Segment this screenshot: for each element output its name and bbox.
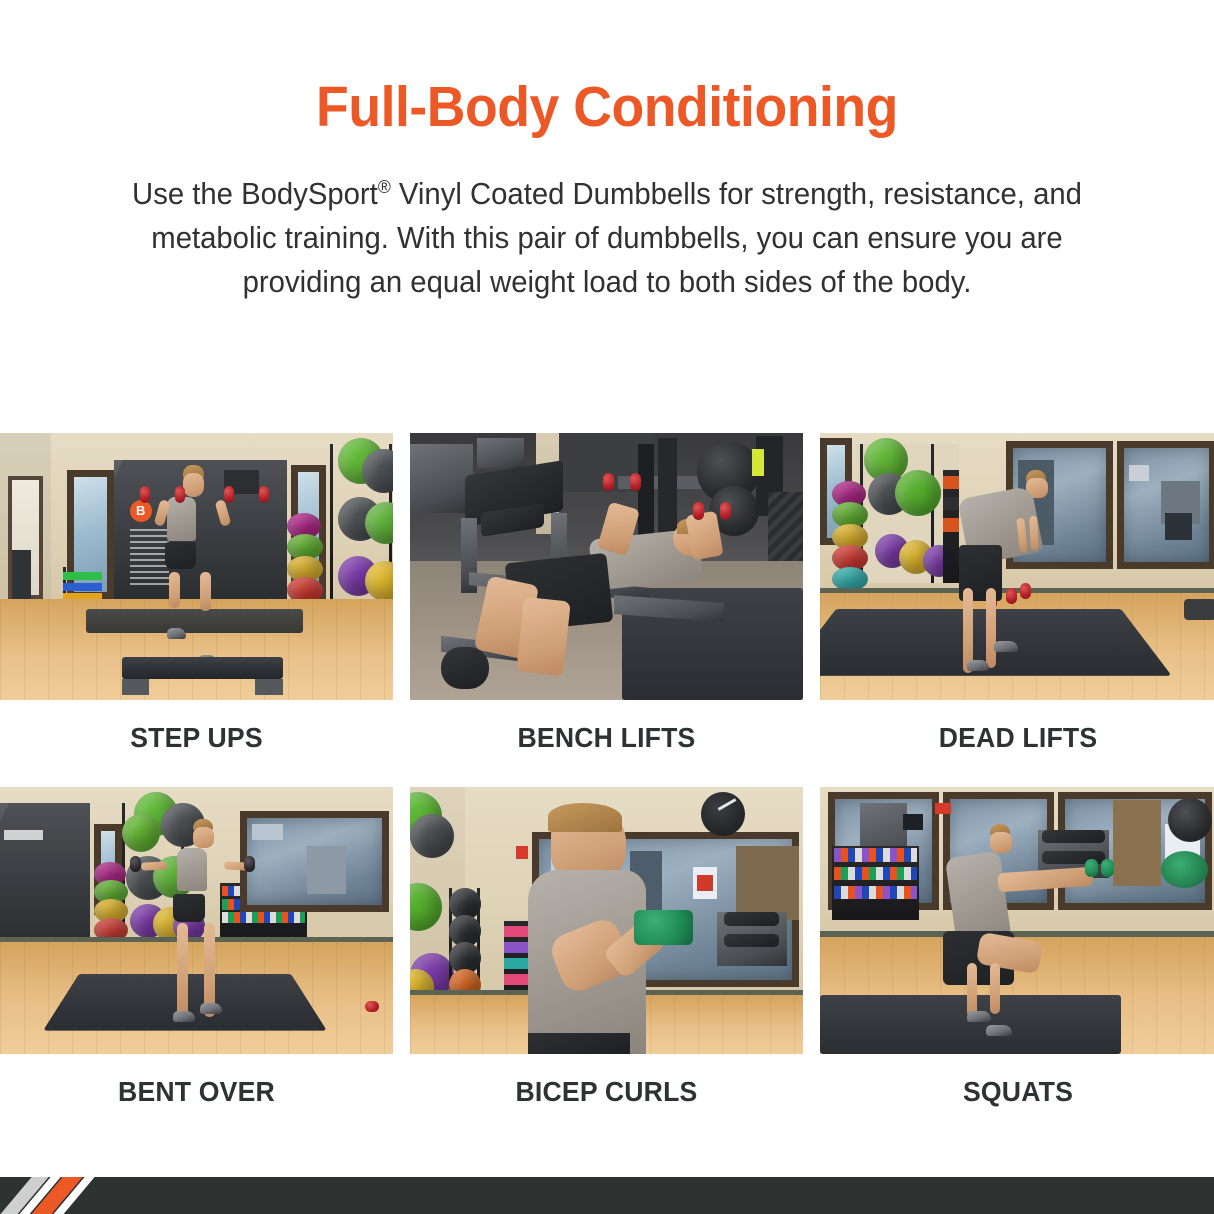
intro-text-before: Use the BodySport bbox=[132, 177, 378, 211]
registered-mark: ® bbox=[378, 176, 391, 197]
exercise-card-step-ups[interactable]: B bbox=[0, 433, 393, 754]
exercise-photo-bent-over bbox=[0, 787, 393, 1054]
exercise-grid: B bbox=[0, 433, 1214, 1108]
exercise-caption: BENT OVER bbox=[10, 1076, 383, 1108]
page-title: Full-Body Conditioning bbox=[36, 78, 1177, 138]
exercise-row-1: B bbox=[0, 433, 1214, 754]
exercise-caption: BENCH LIFTS bbox=[420, 722, 793, 754]
exercise-photo-squats bbox=[820, 787, 1214, 1054]
exercise-card-squats[interactable]: SQUATS bbox=[820, 787, 1214, 1108]
exercise-caption: STEP UPS bbox=[10, 722, 383, 754]
exercise-card-dead-lifts[interactable]: DEAD LIFTS bbox=[820, 433, 1214, 754]
exercise-card-bent-over[interactable]: BENT OVER bbox=[0, 787, 393, 1108]
exercise-caption: SQUATS bbox=[830, 1076, 1206, 1108]
poster-page: Full-Body Conditioning Use the BodySport… bbox=[0, 0, 1214, 1214]
exercise-photo-dead-lifts bbox=[820, 433, 1214, 700]
exercise-photo-bench-lifts bbox=[410, 433, 803, 700]
header: Full-Body Conditioning Use the BodySport… bbox=[0, 0, 1214, 305]
exercise-photo-bicep-curls bbox=[410, 787, 803, 1054]
exercise-caption: BICEP CURLS bbox=[420, 1076, 793, 1108]
footer-bar bbox=[0, 1177, 1214, 1214]
exercise-row-2: BENT OVER bbox=[0, 787, 1214, 1108]
exercise-card-bicep-curls[interactable]: BICEP CURLS bbox=[410, 787, 803, 1108]
exercise-caption: DEAD LIFTS bbox=[830, 722, 1206, 754]
intro-paragraph: Use the BodySport® Vinyl Coated Dumbbell… bbox=[98, 172, 1116, 305]
exercise-photo-step-ups: B bbox=[0, 433, 393, 700]
exercise-card-bench-lifts[interactable]: BENCH LIFTS bbox=[410, 433, 803, 754]
